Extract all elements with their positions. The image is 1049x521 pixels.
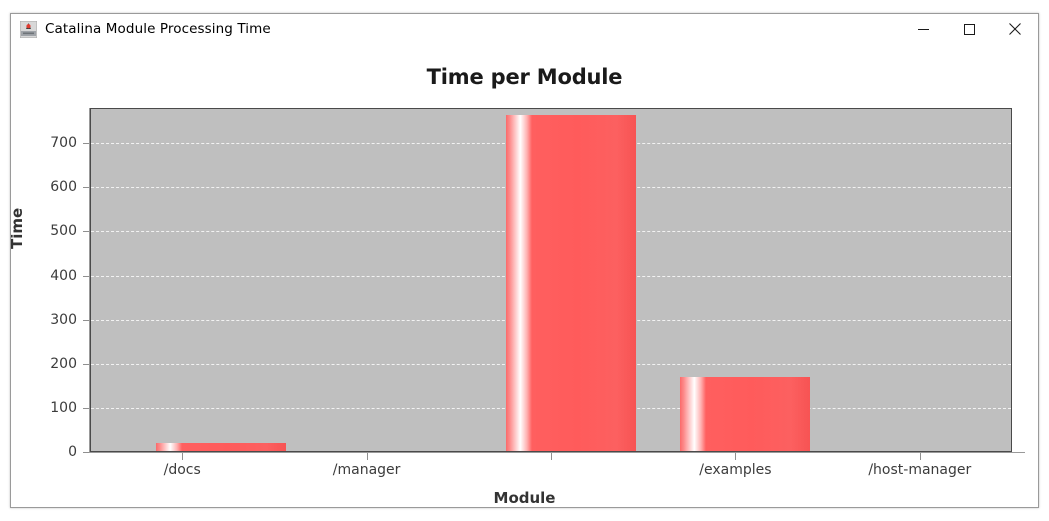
minimize-button[interactable]: [900, 14, 946, 44]
chart-title: Time per Module: [11, 65, 1038, 89]
y-axis-tick-label: 300: [31, 312, 77, 328]
x-axis-tick: [551, 453, 552, 460]
y-axis-tick: [83, 408, 89, 409]
x-axis-tick-label: /manager: [333, 462, 401, 478]
x-axis-tick: [182, 453, 183, 460]
window-controls: [900, 14, 1038, 44]
y-axis-tick: [83, 276, 89, 277]
x-axis-tick-label: /docs: [164, 462, 201, 478]
y-axis-tick: [83, 320, 89, 321]
y-axis-tick: [83, 187, 89, 188]
bar: [680, 377, 810, 451]
y-axis-tick-label: 100: [31, 400, 77, 416]
x-axis-tick-label: /host-manager: [868, 462, 971, 478]
java-duke-icon: [20, 21, 37, 38]
x-axis-title: Module: [11, 489, 1038, 507]
y-axis-title: Time: [11, 208, 26, 249]
x-axis-tick: [367, 453, 368, 460]
close-button[interactable]: [992, 14, 1038, 44]
y-axis-tick-label: 200: [31, 356, 77, 372]
bar: [506, 115, 636, 452]
x-axis-tick: [735, 453, 736, 460]
bar: [156, 443, 286, 451]
y-axis-tick-label: 0: [31, 444, 77, 460]
x-axis-tick-label: /examples: [699, 462, 771, 478]
application-window: Catalina Module Processing Time Time per…: [10, 13, 1039, 508]
y-axis-tick-label: 400: [31, 268, 77, 284]
x-axis-line: [89, 452, 1025, 453]
maximize-button[interactable]: [946, 14, 992, 44]
chart-canvas: Time per Module Time 0100200300400500600…: [11, 44, 1038, 507]
y-axis-tick-label: 500: [31, 223, 77, 239]
y-axis-tick: [83, 143, 89, 144]
y-axis-tick: [83, 452, 89, 453]
y-axis-tick: [83, 231, 89, 232]
y-axis-tick: [83, 364, 89, 365]
y-axis-tick-label: 700: [31, 135, 77, 151]
title-bar: Catalina Module Processing Time: [11, 14, 1038, 44]
window-title: Catalina Module Processing Time: [45, 21, 271, 37]
plot-area: [90, 108, 1012, 452]
x-axis-tick: [920, 453, 921, 460]
y-axis-tick-label: 600: [31, 179, 77, 195]
